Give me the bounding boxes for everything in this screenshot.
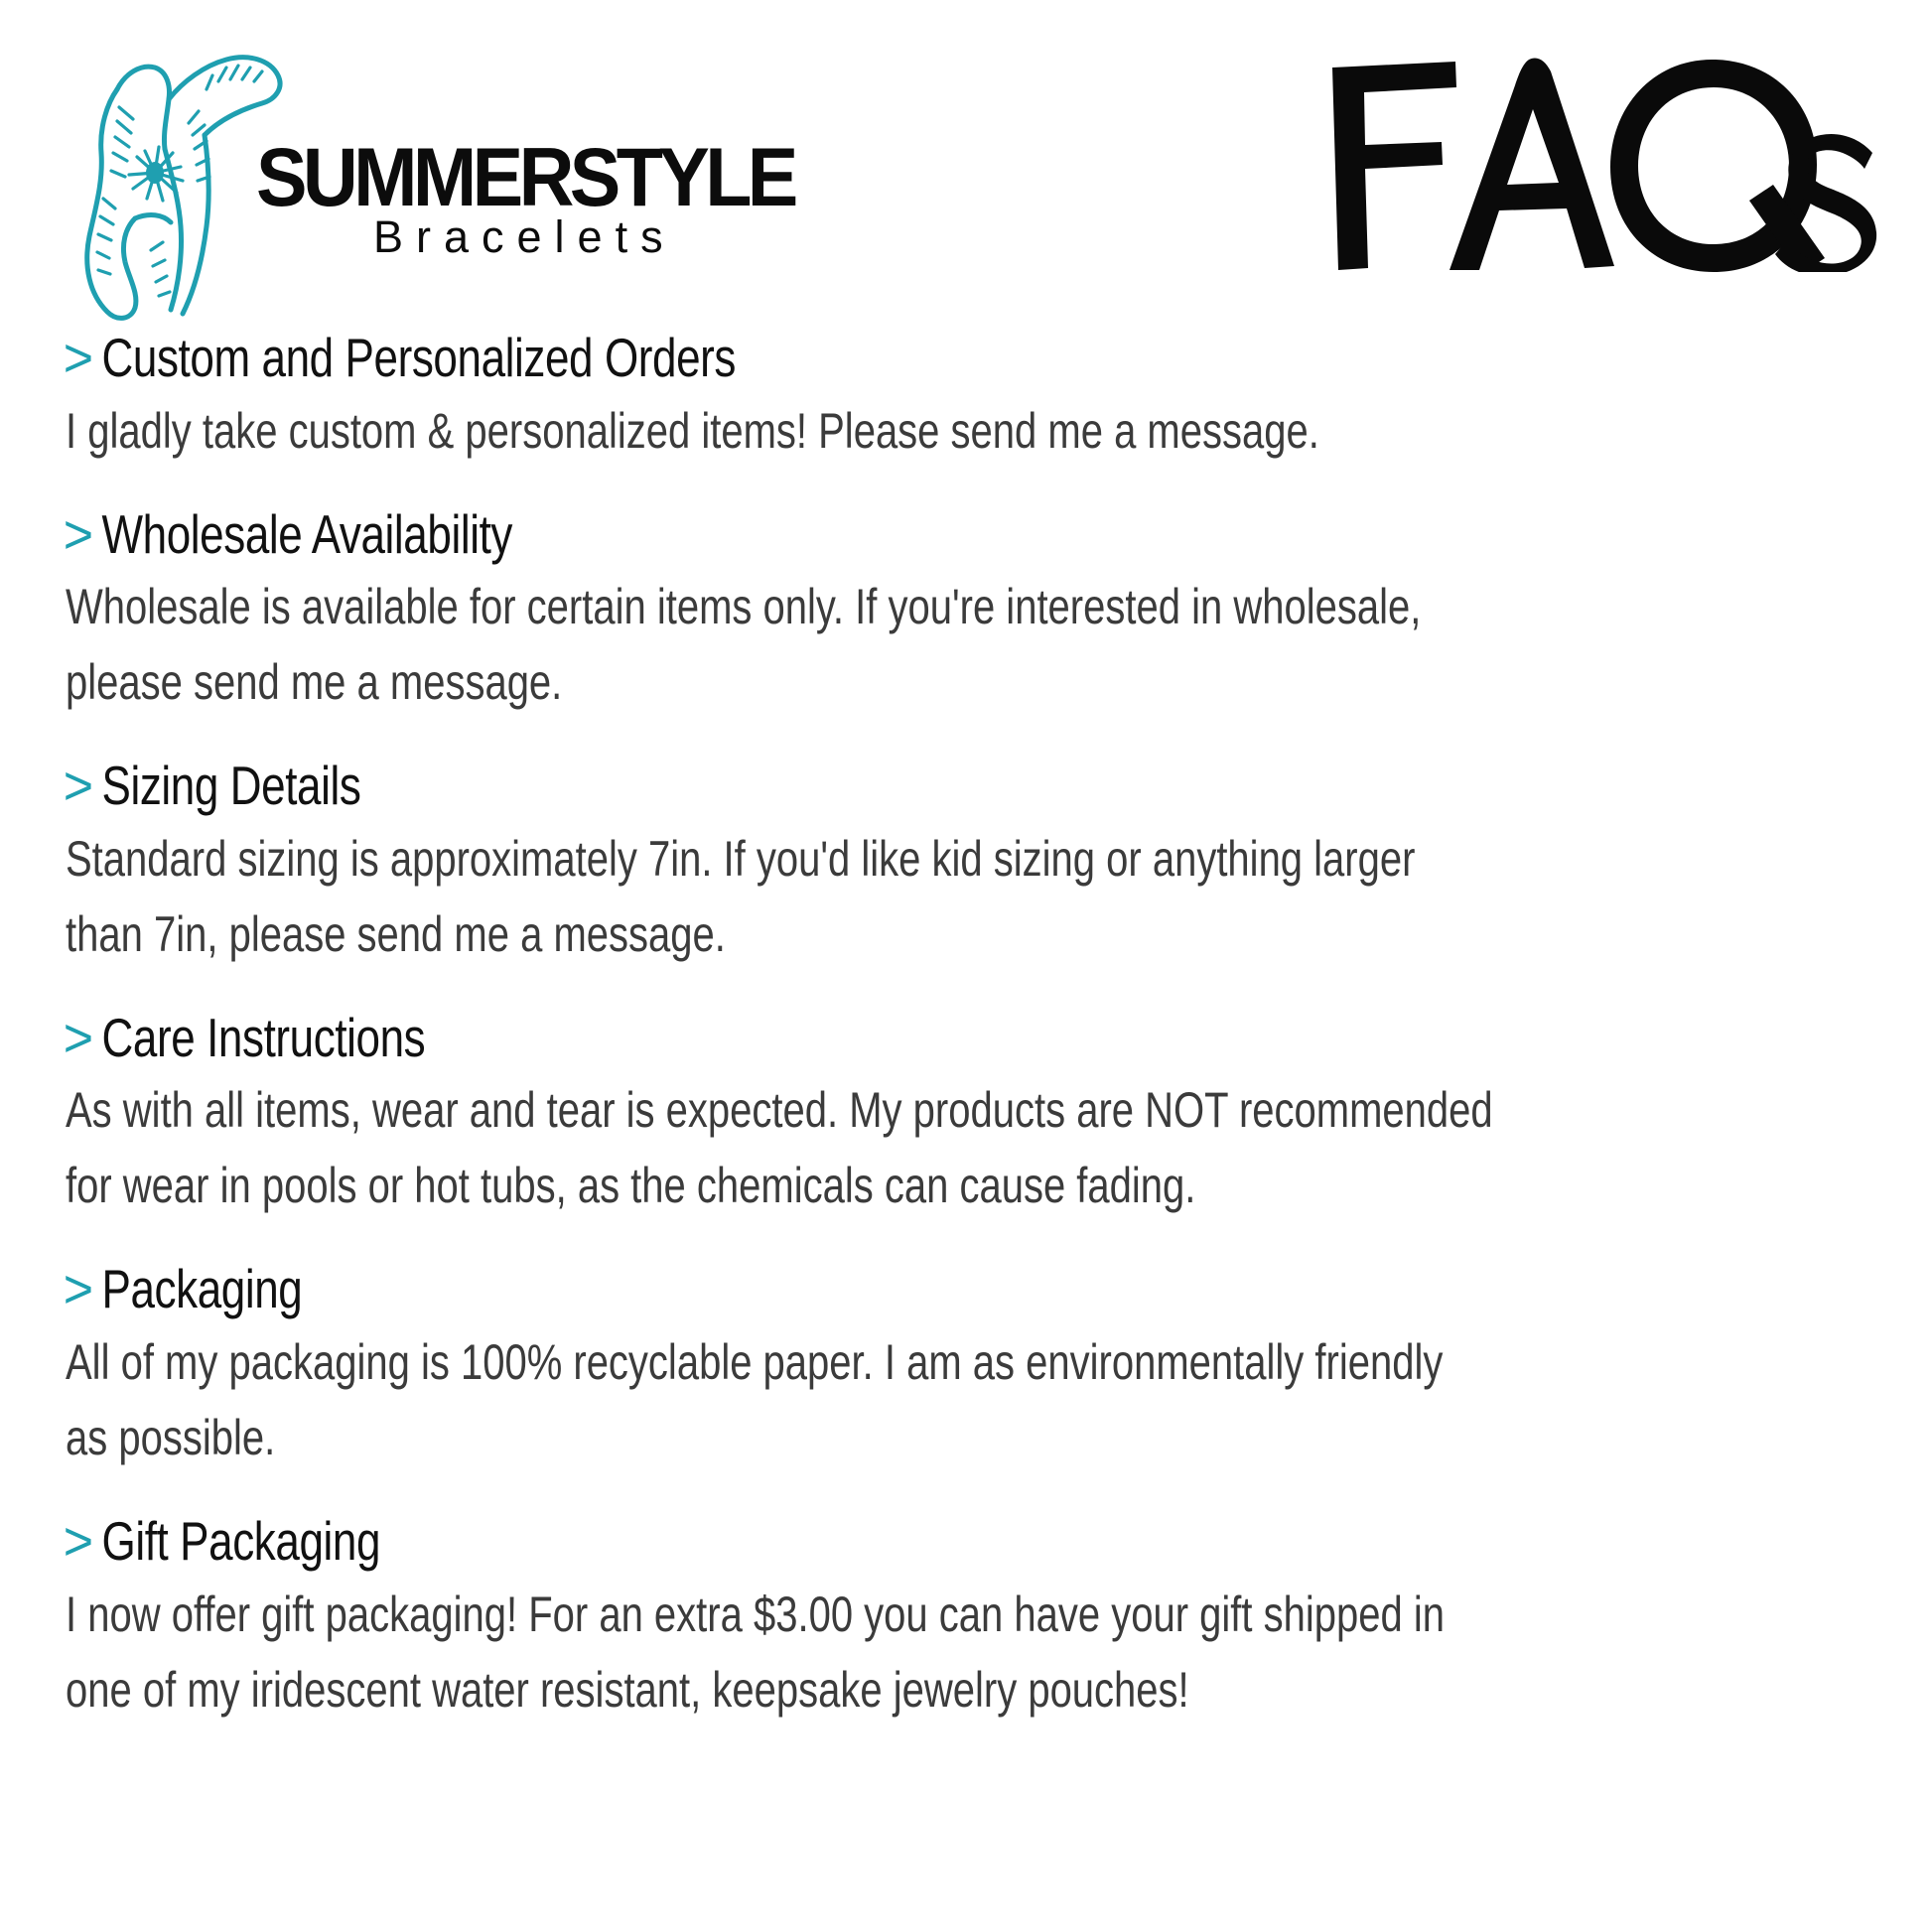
faq-heading[interactable]: >Sizing Details — [66, 756, 1495, 817]
faq-body: I now offer gift packaging! For an extra… — [66, 1577, 1495, 1727]
faq-page: SUMMERSTYLE Bracelets — [0, 0, 1932, 1932]
faq-item: >Custom and Personalized Orders I gladly… — [66, 328, 1853, 469]
faq-heading[interactable]: >Packaging — [66, 1259, 1495, 1320]
page-header: SUMMERSTYLE Bracelets — [0, 0, 1932, 328]
faq-heading[interactable]: >Custom and Personalized Orders — [66, 328, 1495, 389]
faq-heading-label: Care Instructions — [102, 1007, 426, 1068]
brand-tagline: Bracelets — [373, 214, 676, 259]
faq-item: >Care Instructions As with all items, we… — [66, 1008, 1853, 1224]
faq-heading-label: Wholesale Availability — [102, 503, 513, 565]
faq-heading[interactable]: >Gift Packaging — [66, 1511, 1495, 1573]
chevron-right-icon: > — [64, 1259, 93, 1320]
faq-body: Standard sizing is approximately 7in. If… — [66, 821, 1495, 972]
starfish-palm-sketch-icon — [60, 24, 288, 322]
page-title — [1324, 44, 1880, 272]
faq-item: >Wholesale Availability Wholesale is ava… — [66, 504, 1853, 721]
faq-body: Wholesale is available for certain items… — [66, 569, 1495, 720]
faq-heading[interactable]: >Wholesale Availability — [66, 504, 1495, 566]
brand-name-text: SUMMERSTYLE — [256, 131, 796, 224]
faq-heading-label: Packaging — [102, 1258, 303, 1319]
chevron-right-icon: > — [64, 1511, 93, 1573]
faq-item: >Gift Packaging I now offer gift packagi… — [66, 1511, 1853, 1727]
faq-list: >Custom and Personalized Orders I gladly… — [66, 328, 1853, 1763]
faq-heading-label: Sizing Details — [102, 755, 361, 816]
chevron-right-icon: > — [64, 756, 93, 817]
brand-logo: SUMMERSTYLE Bracelets — [60, 24, 874, 322]
faq-body: As with all items, wear and tear is expe… — [66, 1072, 1495, 1223]
faq-heading[interactable]: >Care Instructions — [66, 1008, 1495, 1069]
chevron-right-icon: > — [64, 504, 93, 566]
faq-body: I gladly take custom & personalized item… — [66, 393, 1495, 469]
faq-item: >Sizing Details Standard sizing is appro… — [66, 756, 1853, 972]
chevron-right-icon: > — [64, 328, 93, 389]
faq-heading-label: Gift Packaging — [102, 1510, 381, 1572]
faq-item: >Packaging All of my packaging is 100% r… — [66, 1259, 1853, 1475]
faq-heading-label: Custom and Personalized Orders — [102, 327, 737, 388]
faq-body: All of my packaging is 100% recyclable p… — [66, 1324, 1495, 1475]
chevron-right-icon: > — [64, 1008, 93, 1069]
